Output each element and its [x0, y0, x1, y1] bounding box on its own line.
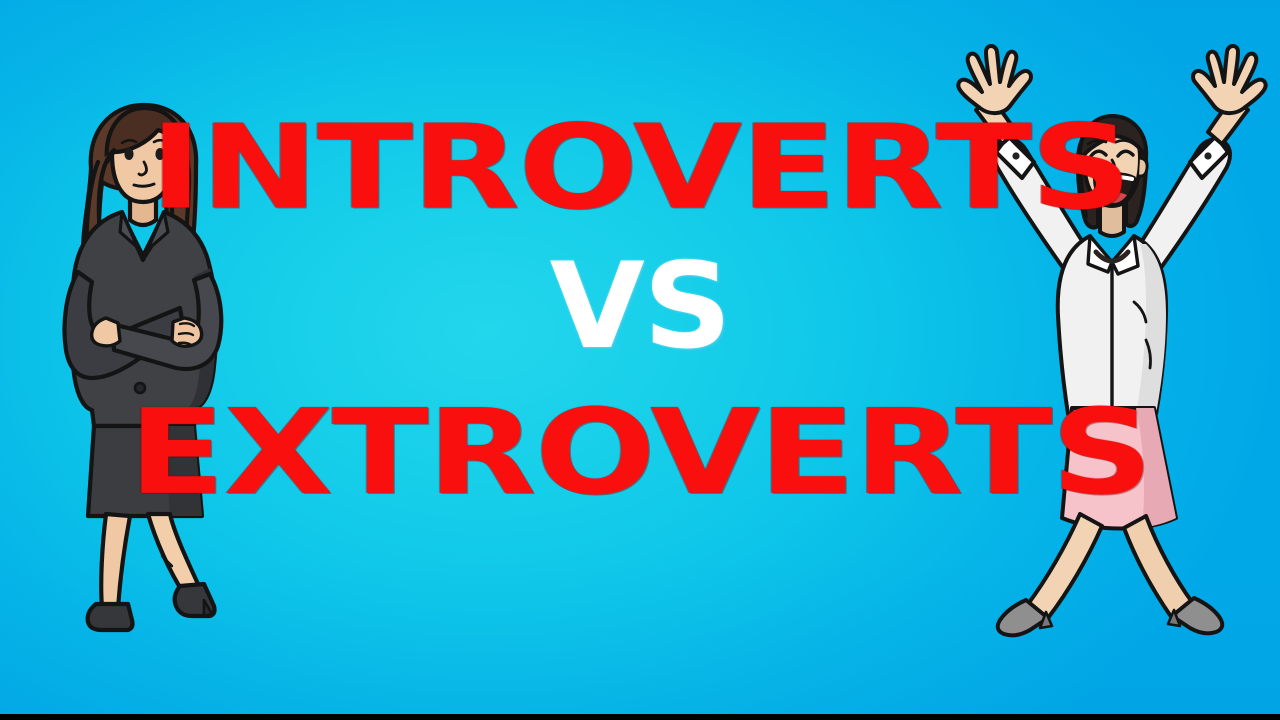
headline-extroverts: EXTROVERTS: [0, 394, 1280, 512]
headline-introverts: INTROVERTS: [0, 110, 1280, 226]
introvert-shoe-back: [88, 604, 133, 630]
headline-vs: VS: [0, 248, 1280, 366]
introvert-leg-back: [101, 514, 130, 608]
introvert-leg-front: [148, 514, 198, 594]
bottom-letterbox-bar: [0, 714, 1280, 720]
thumbnail-canvas: INTROVERTS VS EXTROVERTS: [0, 0, 1280, 720]
extrovert-leg-left: [1028, 514, 1102, 618]
extrovert-hand-right: [1193, 46, 1266, 113]
extrovert-leg-right: [1124, 516, 1192, 618]
